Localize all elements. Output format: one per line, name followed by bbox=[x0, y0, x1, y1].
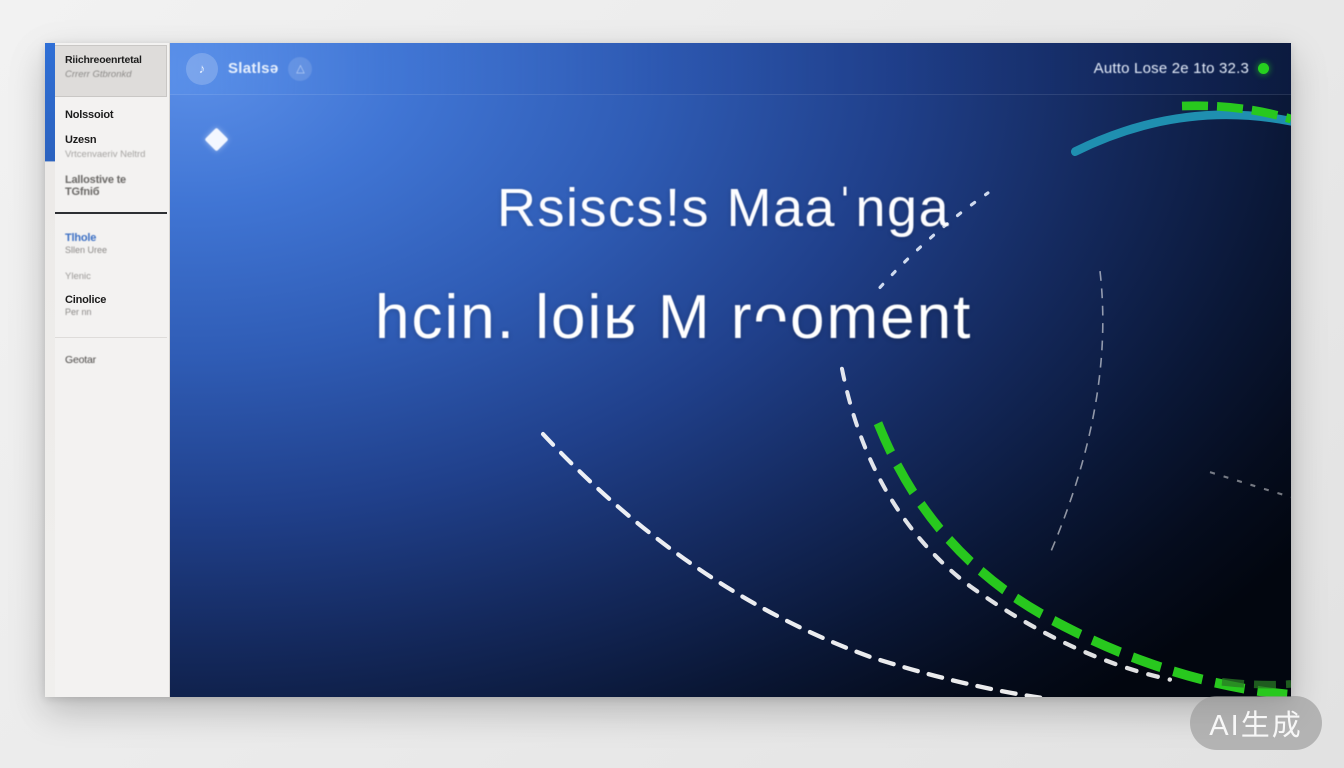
sidebar-spacer bbox=[55, 366, 169, 697]
sidebar-item-tlhole[interactable]: Tlhole Sllen Uree bbox=[65, 232, 167, 258]
app-window: Riichreoenrtetal Crrerr Gtbronkd Nolssoi… bbox=[45, 43, 1291, 697]
sidebar: Riichreoenrtetal Crrerr Gtbronkd Nolssoi… bbox=[45, 43, 170, 697]
top-bar-left-group: ♪ Slatlsǝ △ bbox=[186, 53, 312, 85]
sidebar-nav-tertiary: Geotar bbox=[55, 338, 167, 366]
main-panel: ♪ Slatlsǝ △ Autto Lose 2e 1to 32.3 bbox=[170, 43, 1291, 697]
sidebar-item-ylenic[interactable]: Ylenic bbox=[65, 271, 167, 282]
top-bar-right-group: Autto Lose 2e 1to 32.3 bbox=[1094, 60, 1269, 77]
sidebar-item-cinolice[interactable]: Cinolice Per nn bbox=[65, 294, 167, 320]
status-indicator-dot bbox=[1258, 63, 1269, 74]
sidebar-item-uzesn[interactable]: Uzesn Vrtcenvaeriv Neltrd bbox=[65, 134, 167, 161]
sidebar-item-sublabel: Per nn bbox=[65, 306, 167, 320]
sidebar-header-title: Riichreoenrtetal bbox=[65, 54, 160, 66]
sidebar-item-label: Cinolice bbox=[65, 294, 167, 306]
sidebar-item-lallostive[interactable]: Lallostive te TGfniб bbox=[65, 174, 167, 198]
sidebar-nav-secondary: Tlhole Sllen Uree Ylenic Cinolice Per nn bbox=[55, 214, 167, 338]
status-text: Autto Lose 2e 1to 32.3 bbox=[1094, 60, 1249, 77]
avatar[interactable]: ♪ bbox=[186, 53, 218, 85]
sidebar-item-label: Uzesn bbox=[65, 134, 167, 146]
warning-triangle-glyph: △ bbox=[296, 62, 304, 75]
note-icon: ♪ bbox=[199, 61, 206, 76]
sidebar-nav-primary: Nolssoiot Uzesn Vrtcenvaeriv Neltrd Lall… bbox=[55, 97, 167, 214]
sidebar-header[interactable]: Riichreoenrtetal Crrerr Gtbronkd bbox=[55, 45, 167, 97]
sidebar-item-sublabel: Vrtcenvaeriv Neltrd bbox=[65, 149, 167, 161]
decorative-arcs bbox=[170, 43, 1291, 697]
warning-triangle-icon[interactable]: △ bbox=[288, 57, 312, 81]
sidebar-item-label: Lallostive te bbox=[65, 174, 167, 186]
top-bar-title: Slatlsǝ bbox=[228, 60, 278, 77]
hero-content: Rsiscs!s Maaˈnga hcin. loiʁ M rᴖoment bbox=[170, 95, 1291, 697]
sidebar-item-geotar[interactable]: Geotar bbox=[65, 354, 167, 366]
sidebar-header-subtitle: Crrerr Gtbronkd bbox=[65, 69, 160, 80]
sidebar-item-nolssoiot[interactable]: Nolssoiot bbox=[65, 109, 167, 121]
hero-title-line-2: hcin. loiʁ M rᴖoment bbox=[375, 282, 972, 353]
sidebar-item-sublabel: Sllen Uree bbox=[65, 244, 167, 258]
top-bar: ♪ Slatlsǝ △ Autto Lose 2e 1to 32.3 bbox=[170, 43, 1291, 95]
diamond-icon bbox=[204, 127, 228, 151]
sidebar-item-sublabel: TGfniб bbox=[65, 186, 167, 198]
sidebar-item-label: Tlhole bbox=[65, 232, 167, 244]
watermark-label: AI生成 bbox=[1209, 702, 1302, 744]
ai-generated-watermark: AI生成 bbox=[1190, 696, 1322, 750]
hero-title-line-1: Rsiscs!s Maaˈnga bbox=[497, 177, 950, 239]
sidebar-item-label: Nolssoiot bbox=[65, 109, 167, 121]
